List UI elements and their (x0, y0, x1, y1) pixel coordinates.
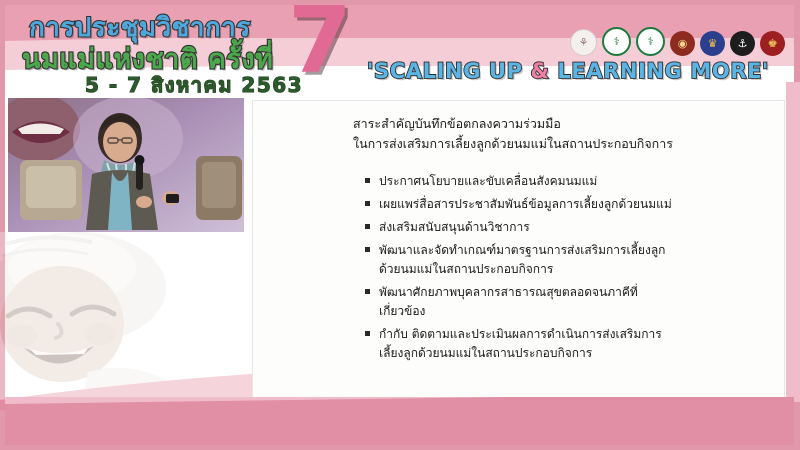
bottom-bar-highlight (5, 397, 794, 404)
frame-border-bottom (0, 445, 800, 450)
list-item: กำกับ ติดตามและประเมินผลการดำเนินการส่งเ… (365, 325, 775, 363)
slide-header: การประชุมวิชาการ นมแม่แห่งชาติ ครั้งที่ … (5, 5, 794, 97)
edition-number: 7 (288, 5, 352, 87)
conference-tagline: 'SCALING UP & LEARNING MORE' (367, 59, 769, 83)
list-item-line-1: พัฒนาและจัดทำเกณฑ์มาตรฐานการส่งเสริมการเ… (379, 243, 665, 257)
square-bullet-icon (365, 247, 370, 252)
list-item: พัฒนาศักยภาพบุคลากรสาธารณสุขตลอดจนภาคีที… (365, 283, 775, 321)
list-item-line-1: พัฒนาศักยภาพบุคลากรสาธารณสุขตลอดจนภาคีที… (379, 285, 638, 299)
logo-institute-black-icon: ⚓ (730, 31, 755, 56)
list-item-line-1: ประกาศนโยบายและขับเคลื่อนสังคมนมแม่ (379, 174, 597, 188)
list-item-line-2: เลี้ยงลูกด้วยนมแม่ในสถานประกอบกิจการ (379, 344, 775, 363)
content-heading: สาระสำคัญบันทึกข้อตกลงความร่วมมือ ในการส… (353, 114, 773, 155)
logo-royal-emblem-icon: ◉ (670, 31, 695, 56)
square-bullet-icon (365, 331, 370, 336)
bottom-decorative-bar (5, 397, 794, 445)
tagline-ampersand: & (531, 59, 550, 83)
square-bullet-icon (365, 178, 370, 183)
logo-foundation-icon: ⚘ (570, 29, 597, 56)
presentation-slide: การประชุมวิชาการ นมแม่แห่งชาติ ครั้งที่ … (0, 0, 800, 450)
square-bullet-icon (365, 224, 370, 229)
mou-bullet-list: ประกาศนโยบายและขับเคลื่อนสังคมนมแม่ เผยแ… (365, 172, 775, 367)
list-item-line-1: ส่งเสริมสนับสนุนด้านวิชาการ (379, 220, 530, 234)
content-panel: สาระสำคัญบันทึกข้อตกลงความร่วมมือ ในการส… (252, 100, 785, 398)
speaker-photo (8, 98, 244, 232)
list-item-line-1: กำกับ ติดตามและประเมินผลการดำเนินการส่งเ… (379, 327, 662, 341)
logo-ministry-icon: ♚ (760, 31, 785, 56)
sponsor-logo-strip: ⚘ ⚕ ⚕ ◉ ♛ ⚓ ♚ สสส (570, 27, 794, 56)
square-bullet-icon (365, 201, 370, 206)
list-item-line-1: เผยแพร่สื่อสารประชาสัมพันธ์ข้อมูลการเลี้… (379, 197, 672, 211)
corner-accent (786, 82, 800, 402)
list-item: เผยแพร่สื่อสารประชาสัมพันธ์ข้อมูลการเลี้… (365, 195, 775, 214)
logo-health-1-icon: ⚕ (602, 27, 631, 56)
list-item-line-2: เกี่ยวข้อง (379, 302, 775, 321)
content-heading-line-1: สาระสำคัญบันทึกข้อตกลงความร่วมมือ (353, 114, 773, 134)
list-item: ประกาศนโยบายและขับเคลื่อนสังคมนมแม่ (365, 172, 775, 191)
square-bullet-icon (365, 289, 370, 294)
child-watermark-photo (0, 232, 252, 410)
list-item-line-2: ด้วยนมแม่ในสถานประกอบกิจการ (379, 260, 775, 279)
conference-date: 5 - 7 สิงหาคม 2563 (85, 69, 303, 97)
tagline-text-post: LEARNING MORE' (549, 59, 769, 83)
tagline-text-pre: 'SCALING UP (367, 59, 531, 83)
logo-thaihealth-icon: สสส (790, 31, 794, 56)
logo-health-2-icon: ⚕ (636, 27, 665, 56)
list-item: พัฒนาและจัดทำเกณฑ์มาตรฐานการส่งเสริมการเ… (365, 241, 775, 279)
content-heading-line-2: ในการส่งเสริมการเลี้ยงลูกด้วยนมแม่ในสถาน… (353, 134, 773, 154)
list-item: ส่งเสริมสนับสนุนด้านวิชาการ (365, 218, 775, 237)
logo-university-icon: ♛ (700, 31, 725, 56)
